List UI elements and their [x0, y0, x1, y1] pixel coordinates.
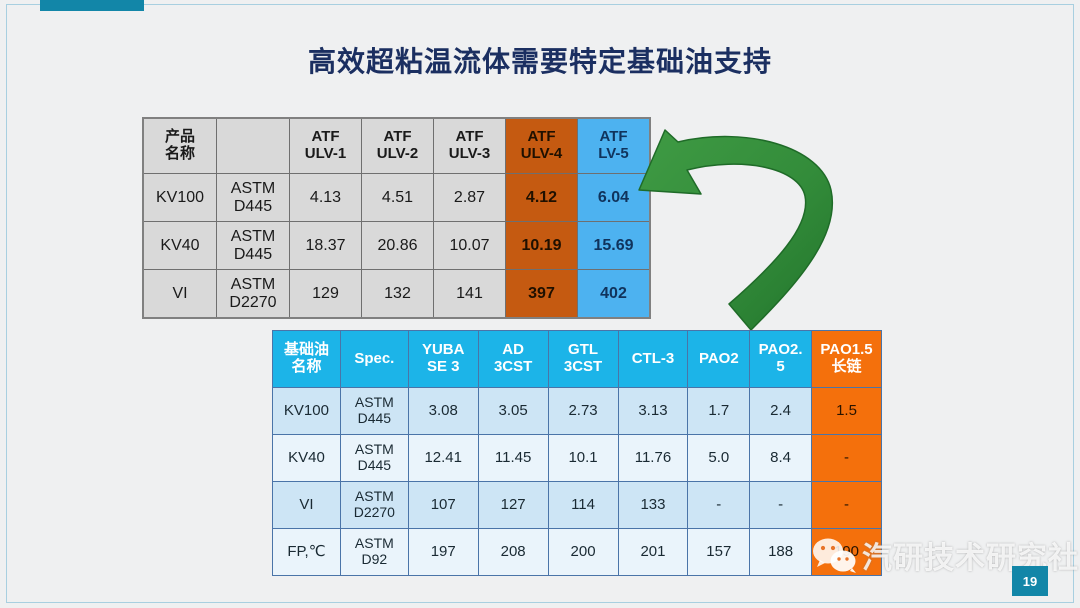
- cell-value: 200: [548, 529, 618, 576]
- row-spec-kv100: ASTM D445: [217, 174, 290, 222]
- header-cell-atf-ulv-3: ATF ULV-3: [434, 118, 506, 174]
- cell-value: 107: [408, 482, 478, 529]
- row-spec-fp: ASTM D92: [340, 529, 408, 576]
- base-oil-table: 基础油 名称 Spec. YUBA SE 3 AD 3CST: [272, 330, 882, 576]
- curved-green-arrow: [625, 118, 855, 343]
- cell-value: 127: [478, 482, 548, 529]
- header-cell-pao1-5-long-chain: PAO1.5 长链: [812, 331, 882, 388]
- row-label-kv40: KV40: [273, 435, 341, 482]
- table-row: VI ASTM D2270 107 127 114 133 - - -: [273, 482, 882, 529]
- cell-value: 2.87: [434, 174, 506, 222]
- cell-value: 114: [548, 482, 618, 529]
- cell-value: 3.05: [478, 388, 548, 435]
- cell-value: 129: [290, 270, 362, 319]
- row-spec-kv100: ASTM D445: [340, 388, 408, 435]
- cell-value-highlight-orange: -: [812, 435, 882, 482]
- table-header-row: 产品 名称 ATF ULV-1 ATF ULV-2 ATF ULV-3: [143, 118, 650, 174]
- cell-value: 2.73: [548, 388, 618, 435]
- header-cell-atf-ulv-2: ATF ULV-2: [362, 118, 434, 174]
- row-label-vi: VI: [143, 270, 217, 319]
- cell-value-highlight-orange: 10.19: [506, 222, 578, 270]
- header-cell-product-name: 产品 名称: [143, 118, 217, 174]
- header-cell-yuba-se3: YUBA SE 3: [408, 331, 478, 388]
- cell-value: 18.37: [290, 222, 362, 270]
- cell-value: 3.13: [618, 388, 688, 435]
- cell-value: 3.08: [408, 388, 478, 435]
- cell-value-highlight-orange: -: [812, 482, 882, 529]
- table-row: KV40 ASTM D445 18.37 20.86 10.07 10.19 1…: [143, 222, 650, 270]
- header-cell-atf-ulv-4: ATF ULV-4: [506, 118, 578, 174]
- cell-value: 5.0: [688, 435, 750, 482]
- cell-value: 11.76: [618, 435, 688, 482]
- header-cell-spec-blank: [217, 118, 290, 174]
- header-cell-pao2: PAO2: [688, 331, 750, 388]
- header-cell-ad-3cst: AD 3CST: [478, 331, 548, 388]
- table-row: KV40 ASTM D445 12.41 11.45 10.1 11.76 5.…: [273, 435, 882, 482]
- cell-value: 20.86: [362, 222, 434, 270]
- base-oil-table-container: 基础油 名称 Spec. YUBA SE 3 AD 3CST: [272, 330, 882, 576]
- cell-value-highlight-orange: 4.12: [506, 174, 578, 222]
- cell-value-highlight-orange: 190: [812, 529, 882, 576]
- header-cell-ctl-3: CTL-3: [618, 331, 688, 388]
- table-row: KV100 ASTM D445 4.13 4.51 2.87 4.12 6.04: [143, 174, 650, 222]
- cell-value: 201: [618, 529, 688, 576]
- header-cell-atf-ulv-1: ATF ULV-1: [290, 118, 362, 174]
- atf-product-table-container: 产品 名称 ATF ULV-1 ATF ULV-2 ATF ULV-3: [142, 117, 651, 319]
- page-title: 高效超粘温流体需要特定基础油支持: [0, 40, 1080, 80]
- header-cell-pao2-5: PAO2. 5: [750, 331, 812, 388]
- table-row: VI ASTM D2270 129 132 141 397 402: [143, 270, 650, 319]
- cell-value: 132: [362, 270, 434, 319]
- cell-value-highlight-orange: 1.5: [812, 388, 882, 435]
- cell-value: 12.41: [408, 435, 478, 482]
- cell-value: 188: [750, 529, 812, 576]
- cell-value: 1.7: [688, 388, 750, 435]
- cell-value: 11.45: [478, 435, 548, 482]
- cell-value: 4.13: [290, 174, 362, 222]
- row-label-fp: FP,℃: [273, 529, 341, 576]
- table-row: FP,℃ ASTM D92 197 208 200 201 157 188 19…: [273, 529, 882, 576]
- header-cell-base-oil-name: 基础油 名称: [273, 331, 341, 388]
- row-spec-kv40: ASTM D445: [217, 222, 290, 270]
- cell-value: 10.1: [548, 435, 618, 482]
- cell-value: 4.51: [362, 174, 434, 222]
- row-label-kv100: KV100: [143, 174, 217, 222]
- cell-value: 157: [688, 529, 750, 576]
- cell-value: -: [750, 482, 812, 529]
- atf-product-table: 产品 名称 ATF ULV-1 ATF ULV-2 ATF ULV-3: [142, 117, 651, 319]
- cell-value: 2.4: [750, 388, 812, 435]
- cell-value: 133: [618, 482, 688, 529]
- row-spec-vi: ASTM D2270: [340, 482, 408, 529]
- cell-value: 208: [478, 529, 548, 576]
- row-spec-vi: ASTM D2270: [217, 270, 290, 319]
- row-label-vi: VI: [273, 482, 341, 529]
- table-row: KV100 ASTM D445 3.08 3.05 2.73 3.13 1.7 …: [273, 388, 882, 435]
- row-spec-kv40: ASTM D445: [340, 435, 408, 482]
- table-header-row: 基础油 名称 Spec. YUBA SE 3 AD 3CST: [273, 331, 882, 388]
- header-cell-spec: Spec.: [340, 331, 408, 388]
- row-label-kv100: KV100: [273, 388, 341, 435]
- slide-canvas: 高效超粘温流体需要特定基础油支持 产品 名称 ATF ULV-1 ATF: [0, 0, 1080, 608]
- page-number-badge: 19: [1012, 566, 1048, 596]
- cell-value-highlight-orange: 397: [506, 270, 578, 319]
- cell-value: 8.4: [750, 435, 812, 482]
- cell-value: 10.07: [434, 222, 506, 270]
- row-label-kv40: KV40: [143, 222, 217, 270]
- header-cell-gtl-3cst: GTL 3CST: [548, 331, 618, 388]
- cell-value: -: [688, 482, 750, 529]
- top-accent-bar: [40, 0, 144, 11]
- cell-value: 141: [434, 270, 506, 319]
- cell-value: 197: [408, 529, 478, 576]
